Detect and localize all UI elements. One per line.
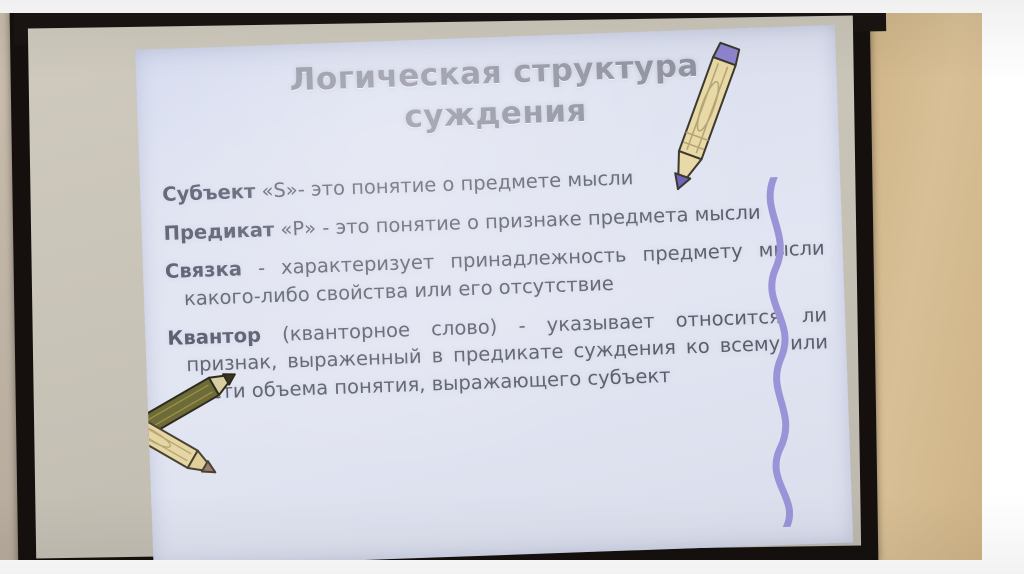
squiggle-icon [744, 176, 816, 528]
letterbox-bottom [0, 560, 1024, 574]
term-copula: Связка [165, 258, 243, 284]
projector-screen-surface: Логическая структура суждения Субъект «S… [28, 16, 861, 559]
slide-paragraph-copula: Связка - характеризует принадлежность пр… [165, 235, 827, 314]
letterbox-top [0, 0, 1024, 13]
slide-body: Субъект «S»- это понятие о предмете мысл… [162, 157, 830, 418]
term-subject: Субъект [162, 180, 256, 206]
definition-predicate: «Р» - это понятие о признаке предмета мы… [274, 200, 761, 240]
term-quantifier: Квантор [167, 323, 261, 349]
definition-subject: «S»- это понятие о предмете мысли [255, 166, 634, 203]
term-predicate: Предикат [163, 218, 274, 245]
presentation-slide: Логическая структура суждения Субъект «S… [135, 25, 853, 568]
photograph-scene: Логическая структура суждения Субъект «S… [0, 0, 1024, 574]
definition-copula: - характеризует принадлежность предмету … [184, 237, 825, 311]
letterbox-right [982, 0, 1024, 574]
definition-quantifier: (кванторное слово) - указывает относится… [186, 303, 828, 404]
slide-paragraph-quantifier: Квантор (кванторное слово) - указывает о… [167, 301, 830, 408]
